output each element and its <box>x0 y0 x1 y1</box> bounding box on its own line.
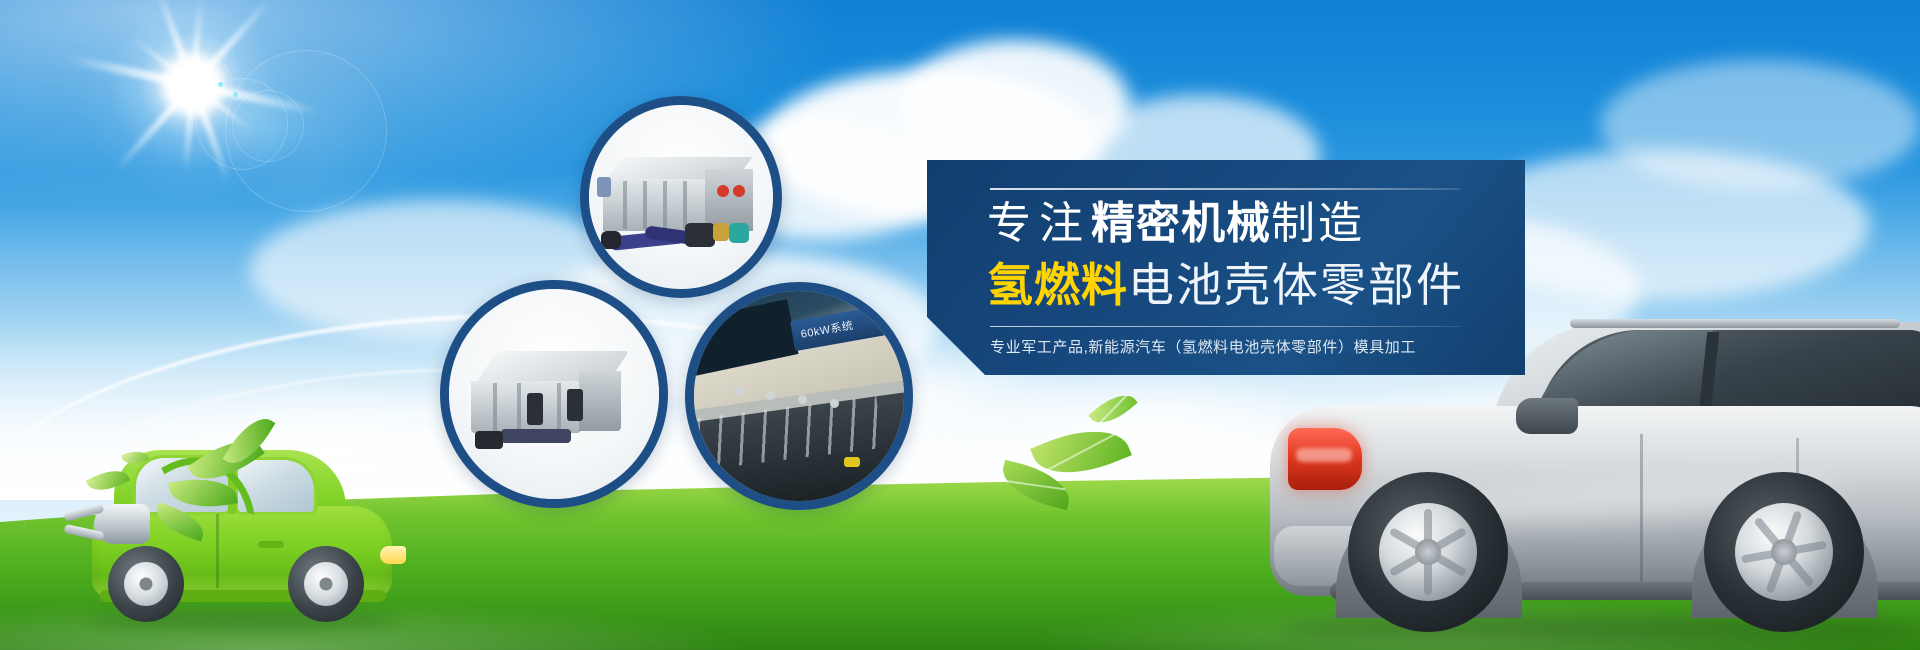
panel-top-rule <box>990 188 1460 190</box>
wheel <box>288 546 364 622</box>
product-photo-fuel-cell-system[interactable]: 60kW系统 <box>685 282 913 510</box>
panel-bottom-rule <box>990 326 1460 327</box>
side-mirror <box>1516 398 1578 434</box>
headline-line2-rest: 电池壳体零部件 <box>1128 259 1464 311</box>
green-electric-car <box>70 416 420 626</box>
headline-line1-part3: 制造 <box>1271 199 1365 248</box>
headline-line1-part2: 精密机械 <box>1091 199 1271 248</box>
lens-flare-icon <box>232 90 304 162</box>
power-plug-icon <box>64 500 150 548</box>
wheel <box>108 546 184 622</box>
subtitle-text: 专业军工产品,新能源汽车（氢燃料电池壳体零部件）模具加工 <box>990 336 1416 357</box>
headline-panel: 专注精密机械制造 氢燃料电池壳体零部件 专业军工产品,新能源汽车（氢燃料电池壳体… <box>927 160 1525 375</box>
lens-flare-icon <box>190 60 232 102</box>
lens-flare-dot-icon <box>218 82 223 87</box>
headline-line-1: 专注精密机械制造 <box>987 194 1365 254</box>
headline-highlight-text: 氢燃料 <box>987 259 1128 311</box>
product-photo-battery-enclosure[interactable] <box>440 280 668 508</box>
hero-banner: 60kW系统 专注精密机械制造 氢燃料电池壳体零部件 专业军工产品,新能源汽车（… <box>0 0 1920 650</box>
headline-line1-part1: 专注 <box>987 199 1091 248</box>
product-photo-fuel-cell-stack[interactable] <box>580 96 782 298</box>
headline-line-2: 氢燃料电池壳体零部件 <box>987 254 1464 316</box>
lens-flare-dot-icon <box>233 92 238 97</box>
wheel <box>1348 472 1508 632</box>
wheel <box>1704 472 1864 632</box>
